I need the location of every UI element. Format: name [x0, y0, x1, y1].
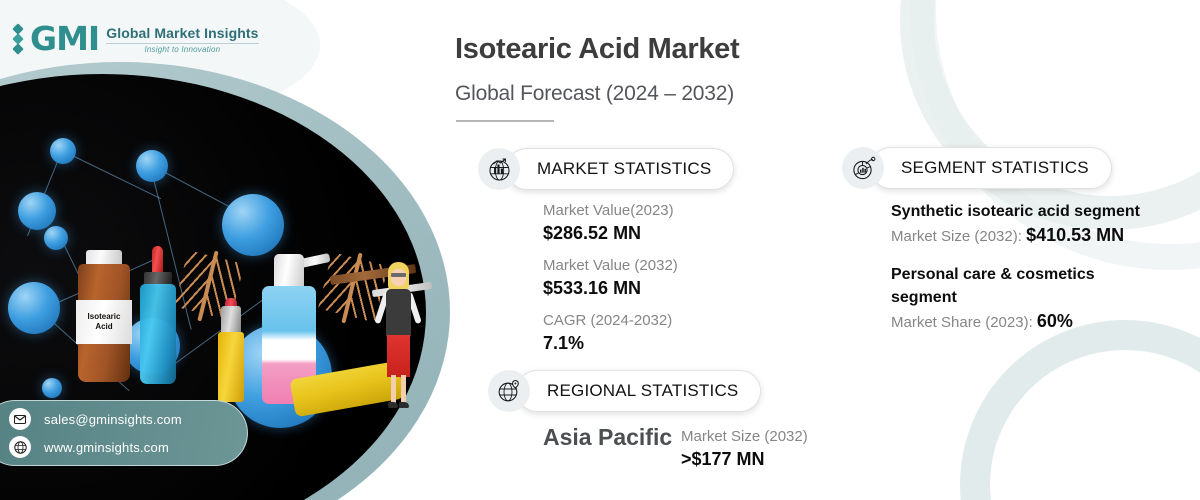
illustration-panel: Isotearic Acid [0, 0, 470, 500]
segment-1-title: Synthetic isotearic acid segment [891, 200, 1191, 223]
figure-torso [386, 289, 411, 337]
contact-email-row[interactable]: sales@gminsights.com [9, 408, 247, 430]
figure-shoe [399, 402, 409, 408]
donut-chart-arrow-icon [842, 147, 884, 189]
segment-statistics-label: SEGMENT STATISTICS [870, 147, 1112, 189]
segment-statistics-body: Synthetic isotearic acid segment Market … [891, 200, 1191, 335]
molecule-node [50, 138, 76, 164]
background-arc-bottom-right [960, 320, 1200, 500]
molecule-node [18, 192, 56, 230]
title-divider [456, 120, 554, 122]
regional-statistics-badge[interactable]: REGIONAL STATISTICS [488, 370, 761, 412]
regional-region: Asia Pacific [543, 424, 672, 451]
molecule-node [44, 226, 68, 250]
segment-2-title: Personal care & cosmetics segment [891, 263, 1131, 309]
spray-neck [274, 254, 304, 290]
logo-gmi-text: GMI [30, 22, 99, 56]
market-value-2023-value: $286.52 MN [543, 221, 678, 245]
lipstick-case [218, 332, 244, 402]
molecule-node [136, 150, 168, 182]
segment-2-metric-value: 60% [1037, 311, 1073, 331]
businesswoman-figure [378, 262, 418, 410]
figure-leg [391, 375, 396, 405]
contact-website-text: www.gminsights.com [44, 440, 169, 455]
bottle-label-line-1: Isotearic [88, 312, 121, 322]
segment-2-metric-label: Market Share (2023): [891, 314, 1033, 331]
regional-metric-label: Market Size (2032) [681, 426, 808, 447]
regional-metric-value: >$177 MN [681, 447, 808, 471]
market-value-2032-value: $533.16 MN [543, 276, 678, 300]
regional-metric: Market Size (2032) >$177 MN [681, 426, 808, 471]
figure-glasses-icon [391, 273, 406, 277]
envelope-icon [9, 408, 31, 430]
regional-statistics-label: REGIONAL STATISTICS [516, 370, 761, 412]
molecule-node [8, 282, 60, 334]
globe-pin-icon [488, 370, 530, 412]
company-logo[interactable]: GMI Global Market Insights Insight to In… [14, 22, 259, 56]
market-value-2032-label: Market Value (2032) [543, 255, 678, 276]
bottle-label-line-2: Acid [95, 322, 112, 332]
market-statistics-badge[interactable]: MARKET STATISTICS [478, 148, 734, 190]
logo-divider [106, 43, 258, 44]
molecule-node [42, 378, 62, 398]
palm-frond-icon [341, 253, 362, 324]
amber-bottle-label: Isotearic Acid [76, 300, 132, 344]
logo-diamond-mark-icon [14, 25, 22, 53]
page-subtitle: Global Forecast (2024 – 2032) [455, 82, 1155, 106]
contact-website-row[interactable]: www.gminsights.com [9, 436, 247, 458]
segment-statistics-badge[interactable]: SEGMENT STATISTICS [842, 147, 1112, 189]
figure-face [391, 269, 406, 286]
logo-tagline: Insight to Innovation [106, 45, 258, 54]
palm-frond-icon [197, 251, 218, 322]
page-title: Isotearic Acid Market [455, 33, 1155, 66]
infographic-canvas: Isotearic Acid [0, 0, 1200, 500]
segment-2-metric: Market Share (2023): 60% [891, 309, 1191, 335]
segment-1-metric-value: $410.53 MN [1026, 225, 1124, 245]
market-statistics-body: Market Value(2023) $286.52 MN Market Val… [543, 200, 678, 355]
market-value-2023-label: Market Value(2023) [543, 200, 678, 221]
figure-skirt [387, 335, 410, 377]
figure-leg [401, 375, 406, 405]
segment-1-metric: Market Size (2032): $410.53 MN [891, 223, 1191, 249]
market-statistics-label: MARKET STATISTICS [506, 148, 734, 190]
region-name: Asia Pacific [543, 424, 672, 451]
contact-email-text: sales@gminsights.com [44, 412, 182, 427]
globe-icon [9, 436, 31, 458]
blue-dropper-bottle [140, 284, 176, 384]
contact-panel: sales@gminsights.com www.gminsights.com [0, 400, 248, 466]
figure-shoe [388, 402, 398, 408]
cagr-label: CAGR (2024-2032) [543, 310, 678, 331]
cagr-value: 7.1% [543, 331, 678, 355]
molecule-node [222, 194, 284, 256]
logo-company-name: Global Market Insights [106, 25, 258, 41]
segment-1-metric-label: Market Size (2032): [891, 228, 1022, 245]
globe-bar-chart-icon [478, 148, 520, 190]
spray-nozzle [299, 253, 330, 268]
